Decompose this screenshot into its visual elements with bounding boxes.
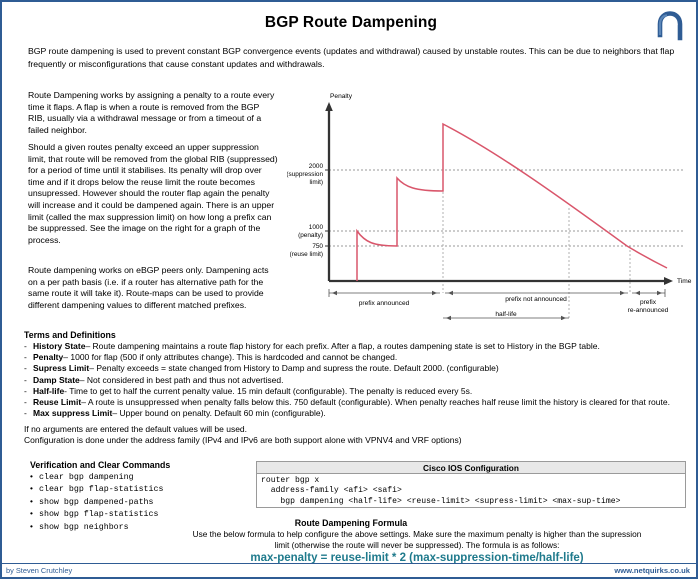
svg-text:(penalty): (penalty) xyxy=(298,232,323,239)
annotation-prefix-not-announced: prefix not announced xyxy=(505,296,567,303)
term-bullet-icon: - xyxy=(24,352,33,363)
term-dash: – xyxy=(81,397,86,407)
intro-paragraph: BGP route dampening is used to prevent c… xyxy=(28,45,676,70)
command-text: clear bgp dampening xyxy=(39,473,134,482)
footer-website: www.netquirks.co.uk xyxy=(614,566,690,575)
default-values-notes: If no arguments are entered the default … xyxy=(24,424,684,446)
annotation-prefix-re-announced-line1: prefix xyxy=(640,299,657,306)
term-dash: – xyxy=(63,352,68,362)
svg-text:(suppression: (suppression xyxy=(287,171,323,178)
term-text: A route is unsuppressed when penalty fal… xyxy=(88,397,670,407)
term-bullet-icon: - xyxy=(24,341,33,352)
term-text: Time to get to half the current penalty … xyxy=(69,386,472,396)
list-item: •clear bgp dampening xyxy=(30,471,245,483)
y-axis-arrow xyxy=(325,102,333,111)
verification-heading: Verification and Clear Commands xyxy=(30,460,170,470)
term-text: Penalty exceeds = state changed from His… xyxy=(96,363,498,373)
ytick-1000: 1000 (penalty) xyxy=(298,224,323,239)
formula-heading: Route Dampening Formula xyxy=(2,518,698,528)
list-item: •show bgp dampened-paths xyxy=(30,496,245,508)
terms-list: -History State– Route dampening maintain… xyxy=(24,341,684,419)
annotation-prefix-re-announced-line2: re-announced xyxy=(628,307,669,314)
formula-description: Use the below formula to help configure … xyxy=(192,529,642,551)
config-box-header: Cisco IOS Configuration xyxy=(257,462,685,474)
svg-text:750: 750 xyxy=(312,243,323,250)
cisco-ios-configuration-box: Cisco IOS Configuration router bgp x add… xyxy=(256,461,686,508)
term-name: Reuse Limit xyxy=(33,397,81,407)
term-name: Max suppress Limit xyxy=(33,408,112,418)
term-name: Penalty xyxy=(33,352,63,362)
term-bullet-icon: - xyxy=(24,363,33,374)
config-line: router bgp x xyxy=(261,476,685,486)
bullet-icon: • xyxy=(30,483,39,494)
x-axis-arrow xyxy=(664,277,673,285)
ytick-750: 750 (reuse limit) xyxy=(290,243,324,258)
config-line: bgp dampening <half-life> <reuse-limit> … xyxy=(261,497,685,507)
term-name: History State xyxy=(33,341,85,351)
svg-text:1000: 1000 xyxy=(309,224,324,231)
term-bullet-icon: - xyxy=(24,408,33,419)
bullet-icon: • xyxy=(30,471,39,482)
infographic-page: BGP Route Dampening BGP route dampening … xyxy=(0,0,698,579)
term-text: Upper bound on penalty. Default 60 min (… xyxy=(119,408,325,418)
command-text: show bgp dampened-paths xyxy=(39,498,154,507)
penalty-curve xyxy=(357,124,667,281)
annotation-half-life: half-life xyxy=(495,311,517,318)
term-name: Supress Limit xyxy=(33,363,89,373)
command-text: clear bgp flap-statistics xyxy=(39,485,163,494)
note-line: Configuration is done under the address … xyxy=(24,435,684,446)
term-dash: – xyxy=(85,341,90,351)
term-text: Route dampening maintains a route flap h… xyxy=(93,341,600,351)
footer-divider xyxy=(2,563,698,564)
svg-text:2000: 2000 xyxy=(309,163,324,170)
chart-xlabel: Time xyxy=(677,278,692,285)
term-bullet-icon: - xyxy=(24,386,33,397)
term-item: -Max suppress Limit– Upper bound on pena… xyxy=(24,408,684,419)
term-dash: – xyxy=(112,408,117,418)
term-bullet-icon: - xyxy=(24,397,33,408)
svg-text:(reuse limit): (reuse limit) xyxy=(290,251,323,258)
ytick-2000: 2000 (suppression limit) xyxy=(287,163,323,186)
term-item: -Reuse Limit– A route is unsuppressed wh… xyxy=(24,397,684,408)
term-bullet-icon: - xyxy=(24,375,33,386)
term-text: Not considered in best path and thus not… xyxy=(87,375,284,385)
term-dash: – xyxy=(89,363,94,373)
config-line: address-family <afi> <safi> xyxy=(261,486,685,496)
paragraph-route-dampening-basics: Route Dampening works by assigning a pen… xyxy=(28,90,278,136)
list-item: •clear bgp flap-statistics xyxy=(30,483,245,495)
config-box-body: router bgp x address-family <afi> <safi>… xyxy=(257,474,685,507)
paragraph-suppression-behaviour: Should a given routes penalty exceed an … xyxy=(28,142,278,246)
page-title: BGP Route Dampening xyxy=(2,14,698,32)
term-item: -Half-life- Time to get to half the curr… xyxy=(24,386,684,397)
chart-ylabel: Penalty xyxy=(330,93,353,100)
footer-author: by Steven Crutchley xyxy=(6,566,72,575)
paragraph-ebgp-scope: Route dampening works on eBGP peers only… xyxy=(28,265,278,311)
term-text: 1000 for flap (500 if only attributes ch… xyxy=(70,352,397,362)
term-item: -Damp State– Not considered in best path… xyxy=(24,375,684,386)
term-name: Damp State xyxy=(33,375,80,385)
term-dash: – xyxy=(80,375,85,385)
annotation-prefix-announced: prefix announced xyxy=(359,300,410,307)
penalty-vs-time-chart: Penalty Time 2000 (suppression limit) 10… xyxy=(287,90,692,320)
bullet-icon: • xyxy=(30,496,39,507)
terms-heading: Terms and Definitions xyxy=(24,330,116,340)
term-dash: - xyxy=(64,386,67,396)
term-item: -Supress Limit– Penalty exceeds = state … xyxy=(24,363,684,374)
svg-text:limit): limit) xyxy=(310,179,324,186)
term-item: -Penalty– 1000 for flap (500 if only att… xyxy=(24,352,684,363)
term-item: -History State– Route dampening maintain… xyxy=(24,341,684,352)
term-name: Half-life xyxy=(33,386,64,396)
note-line: If no arguments are entered the default … xyxy=(24,424,684,435)
